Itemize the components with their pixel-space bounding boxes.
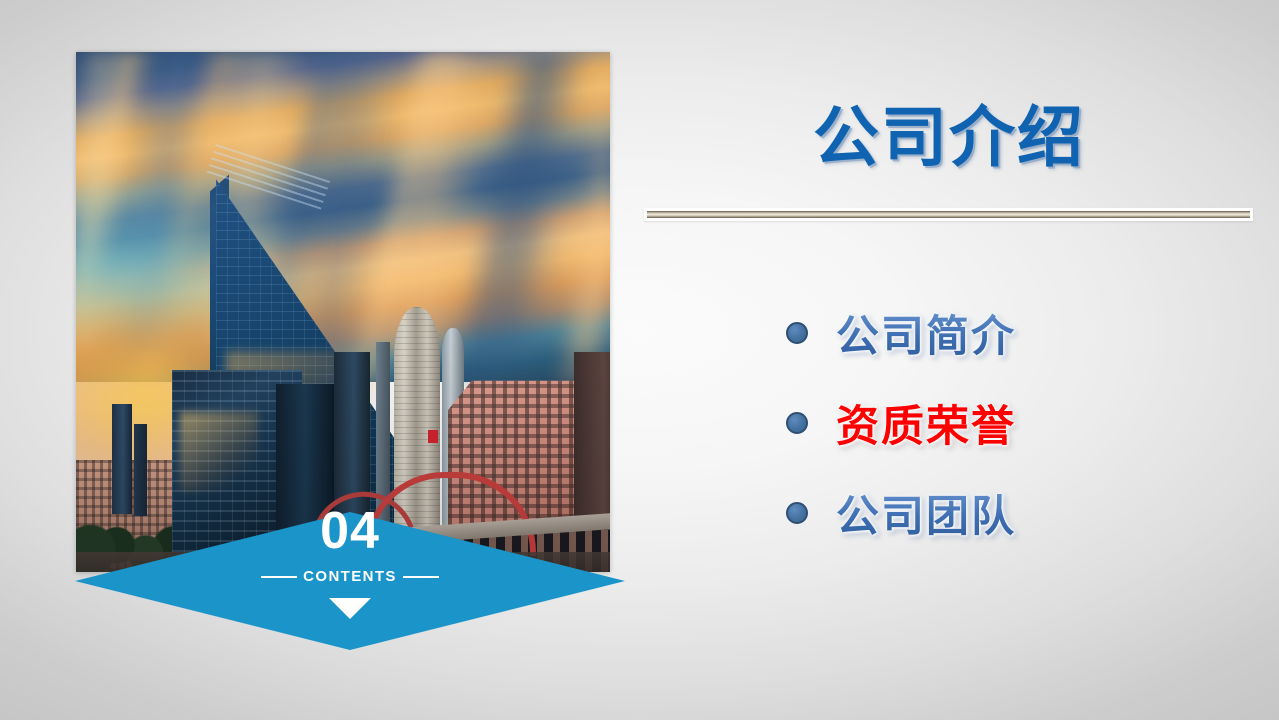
title-divider (644, 208, 1253, 221)
page-title: 公司介绍 (644, 84, 1254, 180)
agenda-list: 公司简介 资质荣誉 公司团队 (786, 288, 1216, 558)
title-divider-bar (647, 211, 1250, 218)
presentation-slide: 04 CONTENTS 公司介绍 公司简介 资质荣誉 公司团队 (0, 0, 1279, 720)
bullet-dot-icon (786, 322, 808, 344)
agenda-item-label-2: 资质荣誉 (836, 392, 1016, 454)
cityscape-photo (76, 52, 610, 572)
bullet-dot-icon (786, 412, 808, 434)
photo-vignette (76, 52, 610, 572)
agenda-item-label-1: 公司简介 (836, 302, 1016, 364)
agenda-item-label-3: 公司团队 (836, 482, 1016, 544)
list-item[interactable]: 资质荣誉 (786, 378, 1216, 468)
list-item[interactable]: 公司团队 (786, 468, 1216, 558)
list-item[interactable]: 公司简介 (786, 288, 1216, 378)
bullet-dot-icon (786, 502, 808, 524)
